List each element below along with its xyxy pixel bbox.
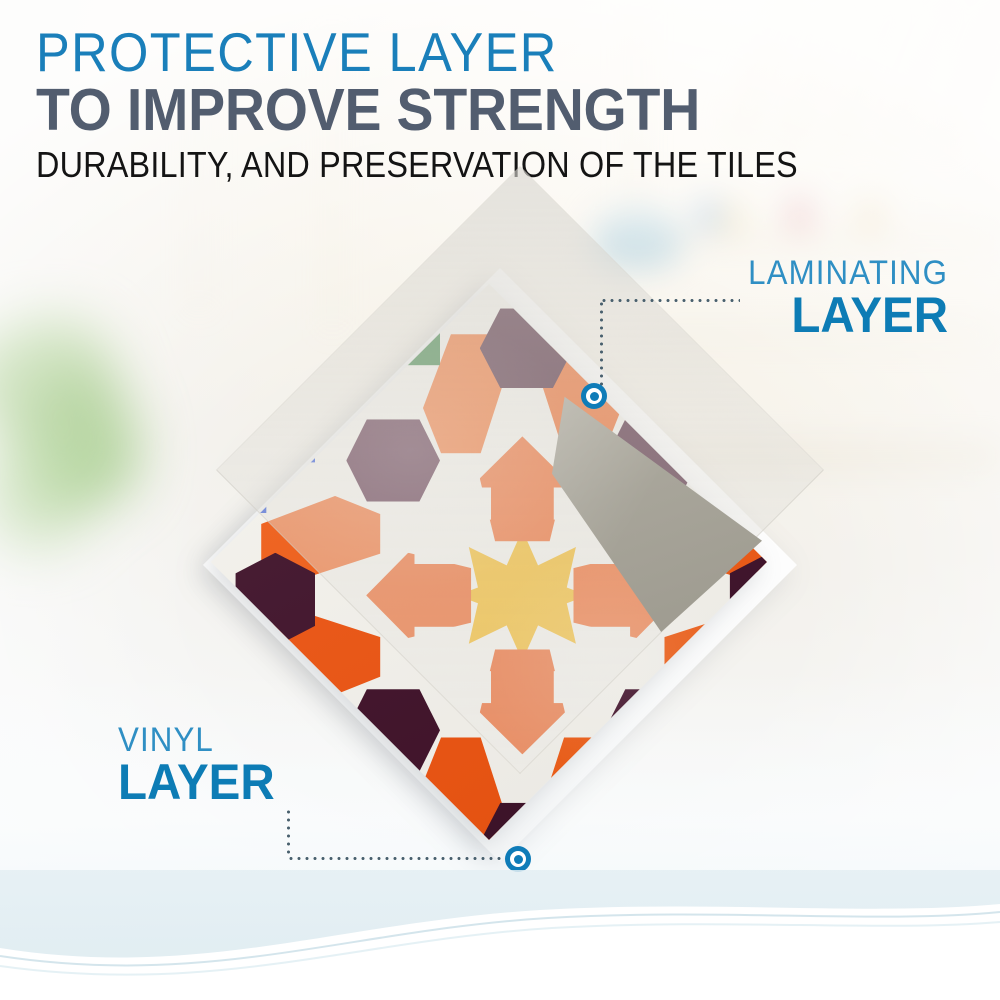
callout-vinyl-bold: LAYER [118,757,517,807]
callout-vinyl-layer: VINYL LAYER [118,723,538,807]
leader-dotted-vertical [287,808,290,858]
callout-laminating-layer: LAMINATING LAYER [528,256,948,340]
product-composition [0,0,1000,1000]
mosaic-dark-hex [690,340,767,420]
leader-dotted-horizontal [287,857,502,860]
poster-canvas: PROTECTIVE LAYER TO IMPROVE STRENGTH DUR… [0,0,1000,1000]
mosaic-dark-hex [267,340,355,420]
leader-dotted-horizontal [600,299,740,302]
callout-laminating-bold: LAYER [549,290,948,340]
bottom-wave-graphic [0,870,1000,1000]
marker-ring-laminating[interactable] [581,383,607,409]
mosaic-dark-hex [690,771,767,839]
callout-laminating-thin: LAMINATING [562,256,948,290]
marker-ring-vinyl[interactable] [505,846,531,872]
callout-vinyl-thin: VINYL [118,723,504,757]
leader-dotted-vertical [600,300,603,390]
mosaic-blue-arrow [596,766,693,840]
